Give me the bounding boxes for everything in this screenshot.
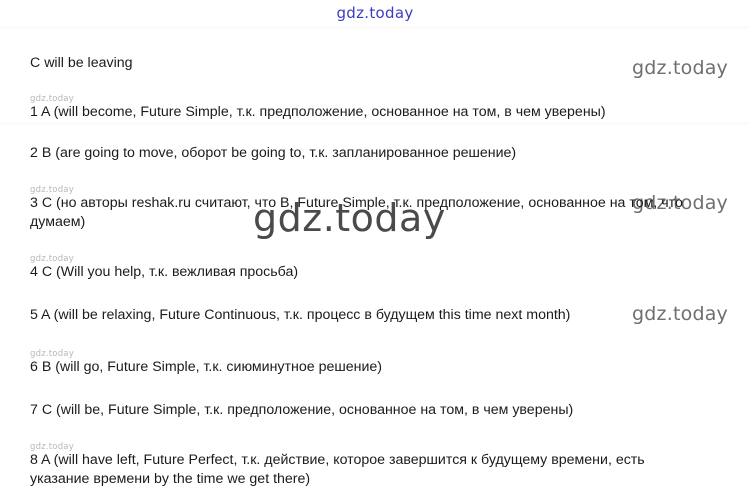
site-logo[interactable]: gdz.today <box>0 4 750 22</box>
answer-item-4: gdz.today 4 C (Will you help, т.к. вежли… <box>30 254 690 282</box>
page-title: C will be leaving <box>30 54 690 73</box>
answer-item-3: gdz.today 3 C (но авторы reshak.ru счита… <box>30 185 690 232</box>
answer-item-1: gdz.today 1 A (will become, Future Simpl… <box>30 94 690 122</box>
answer-text-7: 7 C (will be, Future Simple, т.к. предпо… <box>30 401 690 420</box>
answer-text-6: 6 B (will go, Future Simple, т.к. сиюмин… <box>30 358 690 377</box>
document-heading-block: C will be leaving <box>30 54 690 73</box>
answers-container: C will be leaving gdz.today 1 A (will be… <box>30 50 690 489</box>
answer-text-1: 1 A (will become, Future Simple, т.к. пр… <box>30 103 690 122</box>
answer-text-8: 8 A (will have left, Future Perfect, т.к… <box>30 451 690 489</box>
answer-item-7: 7 C (will be, Future Simple, т.к. предпо… <box>30 401 690 420</box>
answer-text-2: 2 B (are going to move, оборот be going … <box>30 144 690 163</box>
answer-item-5: 5 A (will be relaxing, Future Continuous… <box>30 306 690 325</box>
answer-item-2: 2 B (are going to move, оборот be going … <box>30 144 690 163</box>
answer-text-5: 5 A (will be relaxing, Future Continuous… <box>30 306 690 325</box>
answer-text-3: 3 C (но авторы reshak.ru считают, что B,… <box>30 194 690 232</box>
answer-item-8: gdz.today 8 A (will have left, Future Pe… <box>30 442 690 489</box>
answer-item-6: gdz.today 6 B (will go, Future Simple, т… <box>30 349 690 377</box>
scan-artifact-band <box>0 26 750 29</box>
document-page: gdz.today gdz.today gdz.today gdz.today … <box>0 0 750 456</box>
answer-text-4: 4 C (Will you help, т.к. вежливая просьб… <box>30 263 690 282</box>
